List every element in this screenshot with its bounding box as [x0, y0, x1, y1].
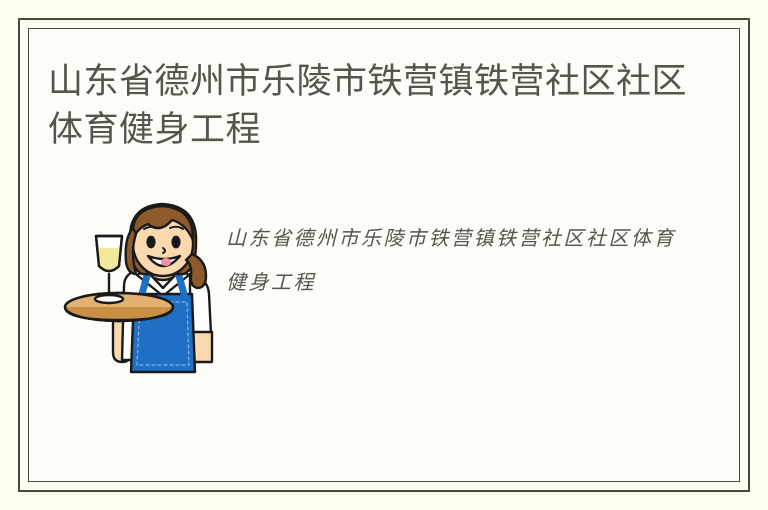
- page-title: 山东省德州市乐陵市铁营镇铁营社区社区体育健身工程: [48, 58, 688, 154]
- waitress-illustration-svg: [56, 190, 236, 380]
- right-eye: [171, 236, 180, 249]
- card-content: 山东省德州市乐陵市铁营镇铁营社区社区体育健身工程: [30, 30, 738, 480]
- left-eye: [146, 236, 155, 249]
- right-forearm: [193, 332, 212, 362]
- project-card: 山东省德州市乐陵市铁营镇铁营社区社区体育健身工程: [0, 0, 768, 510]
- wine-glass-base: [95, 295, 123, 303]
- waitress-illustration: [56, 190, 236, 380]
- handwritten-caption: 山东省德州市乐陵市铁营镇铁营社区社区体育健身工程: [226, 216, 676, 304]
- tongue: [161, 258, 171, 266]
